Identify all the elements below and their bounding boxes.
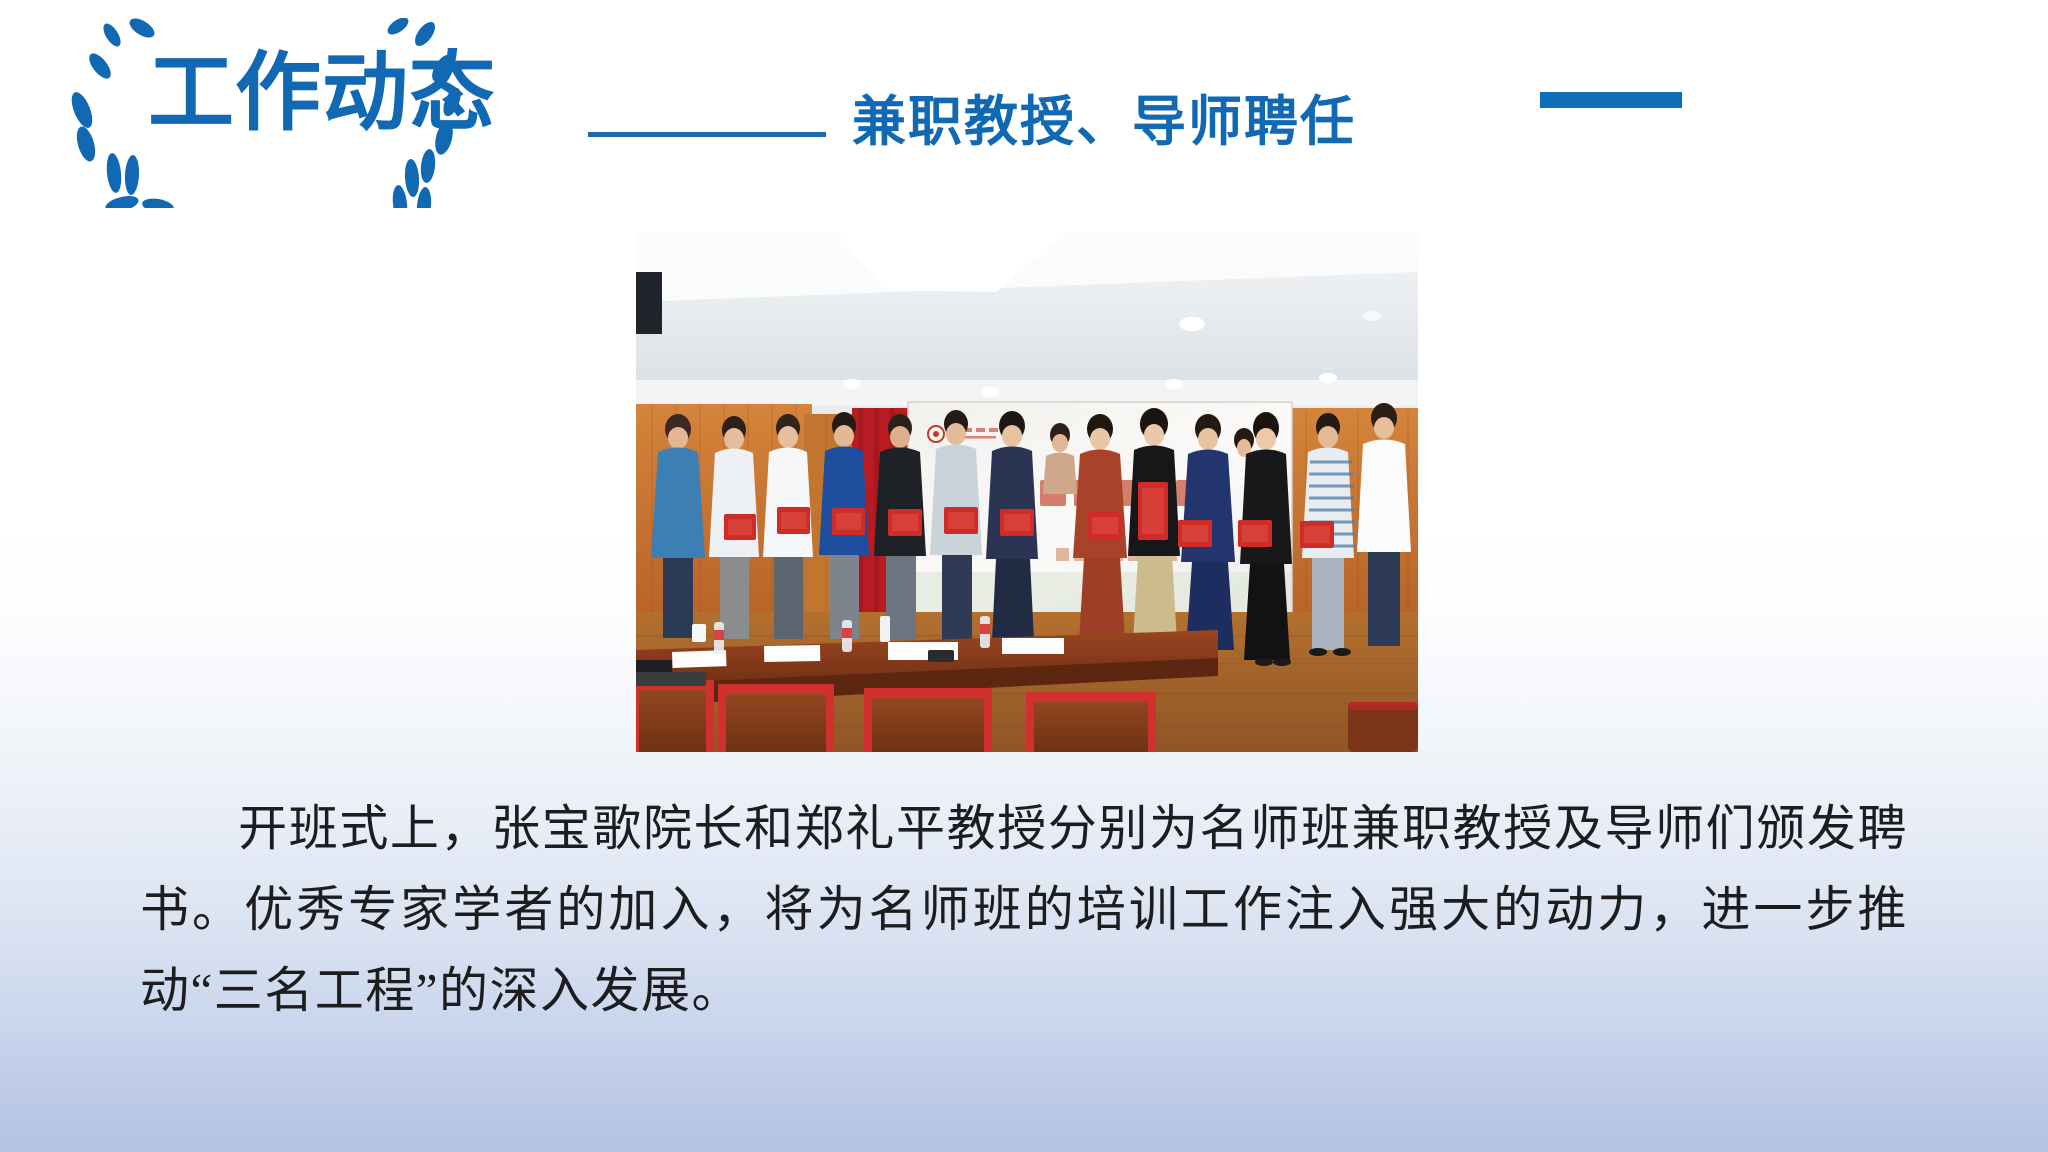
page-title: 工作动态 [148, 50, 496, 136]
accent-bar [1540, 92, 1682, 108]
paragraph-text: 开班式上，张宝歌院长和郑礼平教授分别为名师班兼职教授及导师们颁发聘书。优秀专家学… [140, 801, 1908, 1018]
slide-header: 工作动态 兼职教授、导师聘任 [0, 0, 2048, 230]
body-paragraph: 开班式上，张宝歌院长和郑礼平教授分别为名师班兼职教授及导师们颁发聘书。优秀专家学… [140, 788, 1908, 1031]
event-photo [636, 232, 1418, 752]
title-connector-line [588, 132, 826, 137]
section-subtitle: 兼职教授、导师聘任 [852, 95, 1356, 149]
